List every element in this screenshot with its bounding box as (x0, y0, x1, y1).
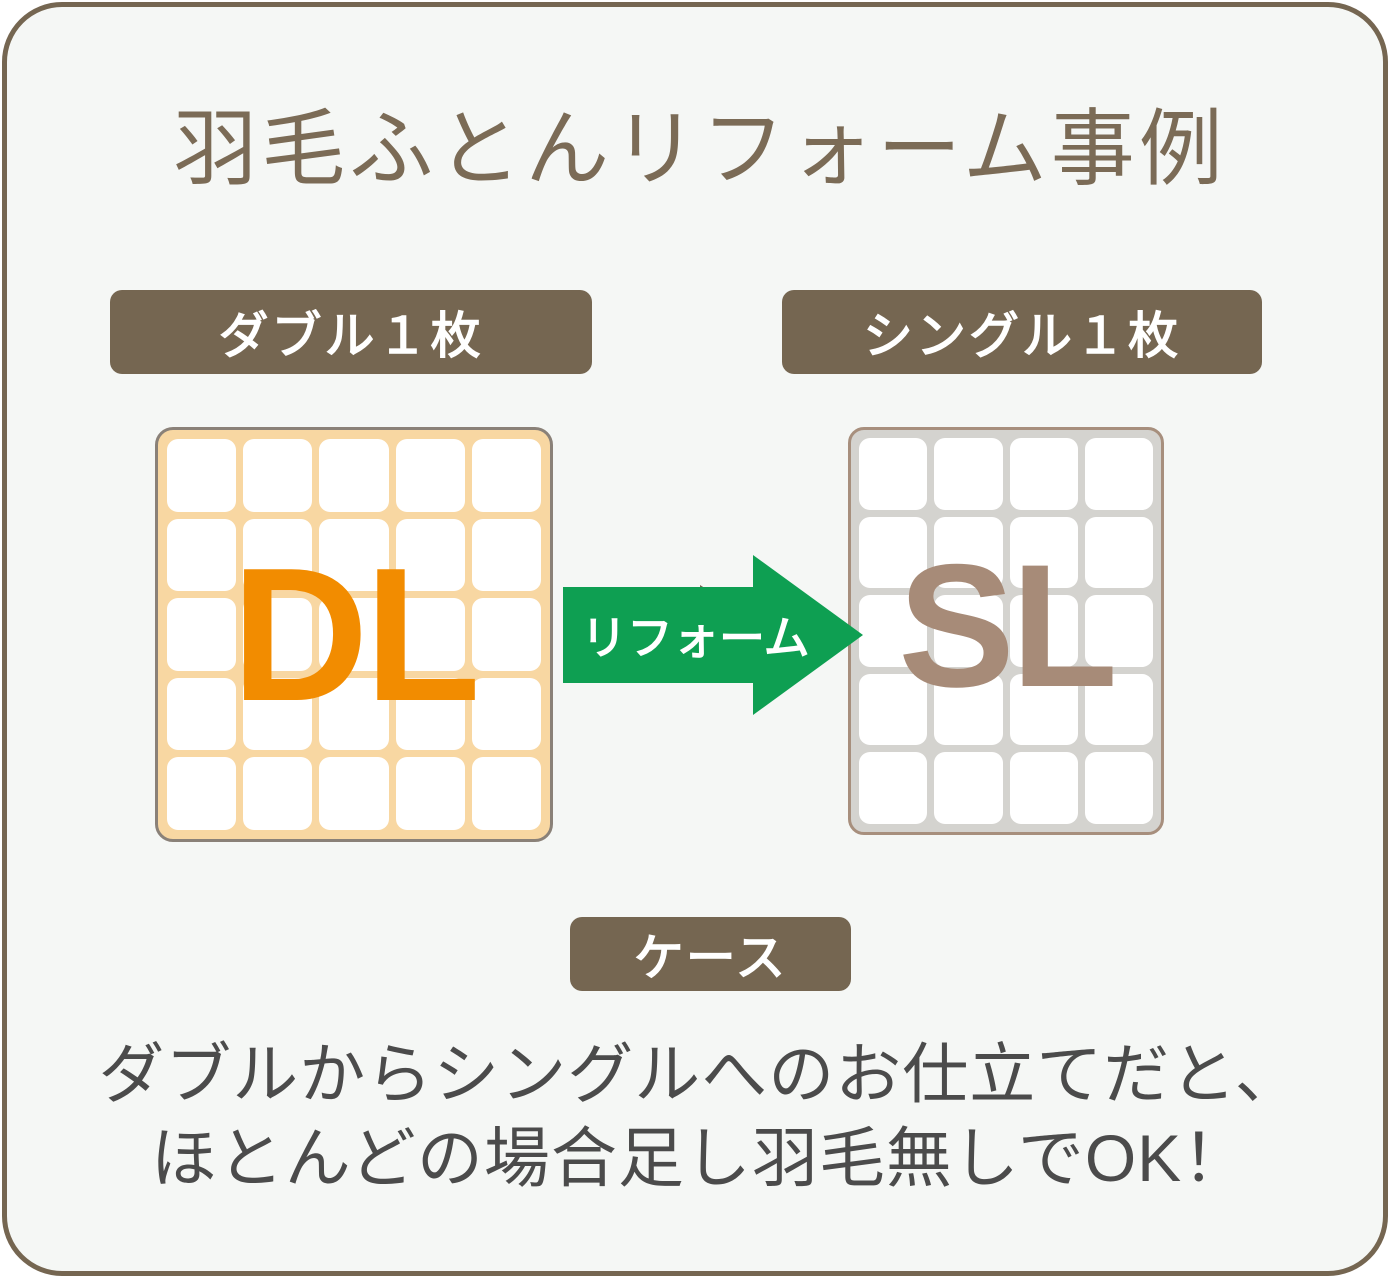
grid-cell (1010, 517, 1078, 589)
reform-arrow-icon (563, 555, 863, 715)
grid-cell (1085, 674, 1153, 746)
badge-case: ケース (570, 917, 851, 991)
grid-cell (396, 598, 465, 671)
grid-cell (472, 519, 541, 592)
after-grid (848, 427, 1164, 835)
grid-cell (319, 678, 388, 751)
reform-example-card: 羽毛ふとんリフォーム事例 ダブル１枚 シングル１枚 (2, 2, 1388, 1276)
grid-cell (472, 678, 541, 751)
grid-cell (859, 595, 927, 667)
grid-cell (472, 598, 541, 671)
grid-cell (243, 439, 312, 512)
grid-cell (1085, 517, 1153, 589)
grid-cell (396, 519, 465, 592)
grid-cell (243, 598, 312, 671)
badge-before-size: ダブル１枚 (110, 290, 592, 374)
grid-cell (167, 439, 236, 512)
description-line-2: ほとんどの場合足し羽毛無しでOK！ (7, 1116, 1388, 1200)
badge-row: ダブル１枚 シングル１枚 (7, 290, 1388, 380)
grid-cell (934, 517, 1002, 589)
grid-cell (1085, 438, 1153, 510)
grid-cell (167, 598, 236, 671)
grid-cell (934, 595, 1002, 667)
before-grid (155, 427, 553, 842)
grid-cell (1010, 438, 1078, 510)
grid-cell (472, 439, 541, 512)
grid-cell (167, 519, 236, 592)
grid-cell (243, 678, 312, 751)
grid-cell (1085, 752, 1153, 824)
grid-cell (859, 517, 927, 589)
grid-cell (1010, 752, 1078, 824)
grid-cell (167, 678, 236, 751)
grid-cell (859, 674, 927, 746)
grid-cell (859, 752, 927, 824)
grid-cell (167, 757, 236, 830)
grid-cell (472, 757, 541, 830)
grid-cell (319, 519, 388, 592)
grid-cell (934, 752, 1002, 824)
description-text: ダブルからシングルへのお仕立てだと、 ほとんどの場合足し羽毛無しでOK！ (7, 1032, 1388, 1200)
badge-after-size: シングル１枚 (782, 290, 1262, 374)
grid-cell (243, 757, 312, 830)
grid-cell (396, 757, 465, 830)
grid-cell (934, 438, 1002, 510)
grid-cell (319, 757, 388, 830)
page-title: 羽毛ふとんリフォーム事例 (7, 107, 1388, 191)
grid-cell (1010, 674, 1078, 746)
grid-cell (396, 678, 465, 751)
grid-cell (1085, 595, 1153, 667)
grid-cell (1010, 595, 1078, 667)
grid-cell (319, 598, 388, 671)
grid-cell (396, 439, 465, 512)
grid-cell (319, 439, 388, 512)
grid-cell (859, 438, 927, 510)
grid-cell (934, 674, 1002, 746)
description-line-1: ダブルからシングルへのお仕立てだと、 (7, 1032, 1388, 1116)
grid-cell (243, 519, 312, 592)
